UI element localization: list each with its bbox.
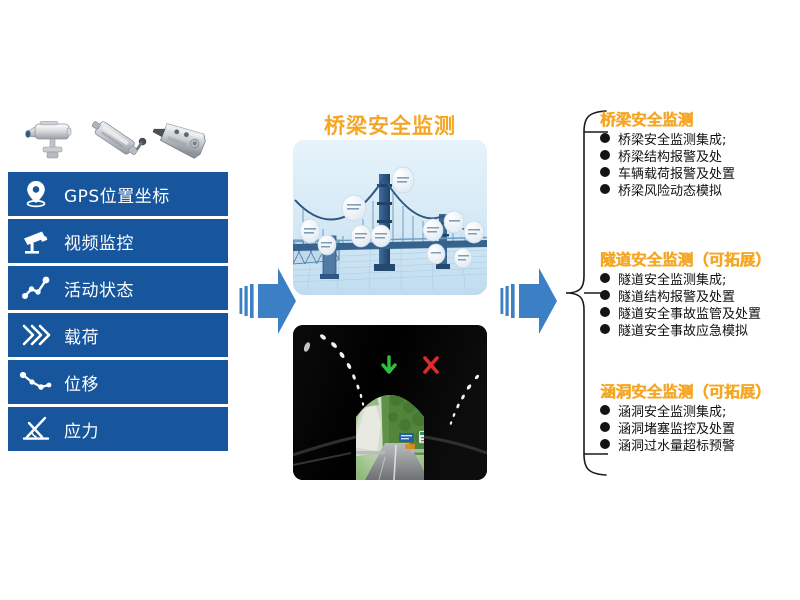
stress-angle-icon (8, 407, 64, 451)
displacement-nodes-icon (8, 360, 64, 404)
location-pin-icon (8, 172, 64, 216)
list-item-label: 涵洞过水量超标预警 (616, 438, 735, 455)
bullet-dot-icon (600, 404, 616, 415)
list-item: 隧道结构报警及处置 (600, 289, 800, 306)
list-item-label: 桥梁安全监测集成; (616, 132, 726, 149)
bullet-dot-icon (600, 272, 616, 283)
list-item-label: 隧道安全监测集成; (616, 272, 726, 289)
list-item: 涵洞堵塞监控及处置 (600, 421, 800, 438)
bridge-monitoring-image (293, 140, 487, 295)
block-tunnel-monitoring: 隧道安全监测（可拓展） 隧道安全监测集成; 隧道结构报警及处置 隧道安全事故监管… (600, 248, 800, 340)
arrow-center-to-right (497, 262, 559, 344)
list-item-label: 桥梁结构报警及处 (616, 149, 722, 166)
bullet-dot-icon (600, 183, 616, 194)
bullet-dot-icon (600, 166, 616, 177)
bullet-dot-icon (600, 132, 616, 143)
parameter-label: GPS位置坐标 (64, 182, 170, 207)
list-item-label: 涵洞安全监测集成; (616, 404, 726, 421)
bullet-dot-icon (600, 323, 616, 334)
list-item-label: 隧道结构报警及处置 (616, 289, 735, 306)
cctv-camera-photo (22, 116, 84, 164)
load-cell-photo (150, 116, 212, 164)
list-item: 涵洞安全监测集成; (600, 404, 800, 421)
parameter-label: 视频监控 (64, 229, 134, 254)
parameter-bar-displacement[interactable]: 位移 (8, 360, 228, 404)
parameter-label: 位移 (64, 370, 99, 395)
center-title: 桥梁安全监测 (290, 110, 490, 140)
video-camera-icon (8, 219, 64, 263)
block-bridge-monitoring: 桥梁安全监测 桥梁安全监测集成; 桥梁结构报警及处 车辆载荷报警及处置 桥梁风险… (600, 108, 800, 200)
list-item: 桥梁安全监测集成; (600, 132, 800, 149)
activity-graph-icon (8, 266, 64, 310)
parameter-bar-gps[interactable]: GPS位置坐标 (8, 172, 228, 216)
block-item-list: 涵洞安全监测集成; 涵洞堵塞监控及处置 涵洞过水量超标预警 (600, 404, 800, 455)
parameter-label: 载荷 (64, 323, 99, 348)
bullet-dot-icon (600, 306, 616, 317)
list-item: 隧道安全事故应急模拟 (600, 323, 800, 340)
block-item-list: 桥梁安全监测集成; 桥梁结构报警及处 车辆载荷报警及处置 桥梁风险动态模拟 (600, 132, 800, 200)
list-item-label: 车辆载荷报警及处置 (616, 166, 735, 183)
list-item: 桥梁风险动态模拟 (600, 183, 800, 200)
sensor-photo-row (14, 112, 214, 168)
list-item: 桥梁结构报警及处 (600, 149, 800, 166)
parameter-label: 活动状态 (64, 276, 134, 301)
displacement-sensor-photo (86, 114, 148, 166)
parameter-bar-stress[interactable]: 应力 (8, 407, 228, 451)
block-title: 涵洞安全监测（可拓展） (600, 380, 800, 402)
diagram-canvas: GPS位置坐标 视频监控 (0, 0, 800, 600)
list-item: 涵洞过水量超标预警 (600, 438, 800, 455)
list-item-label: 桥梁风险动态模拟 (616, 183, 722, 200)
block-title: 隧道安全监测（可拓展） (600, 248, 800, 270)
list-item: 隧道安全监测集成; (600, 272, 800, 289)
parameter-bar-video[interactable]: 视频监控 (8, 219, 228, 263)
tunnel-monitoring-image (293, 325, 487, 480)
bullet-dot-icon (600, 289, 616, 300)
parameter-label: 应力 (64, 417, 99, 442)
arrow-left-to-center (236, 262, 298, 344)
list-item: 隧道安全事故监管及处置 (600, 306, 800, 323)
parameter-bar-load[interactable]: 载荷 (8, 313, 228, 357)
bullet-dot-icon (600, 421, 616, 432)
list-item-label: 涵洞堵塞监控及处置 (616, 421, 735, 438)
bullet-dot-icon (600, 438, 616, 449)
block-title: 桥梁安全监测 (600, 108, 800, 130)
parameter-bar-activity[interactable]: 活动状态 (8, 266, 228, 310)
parameter-bar-list: GPS位置坐标 视频监控 (8, 172, 228, 454)
block-culvert-monitoring: 涵洞安全监测（可拓展） 涵洞安全监测集成; 涵洞堵塞监控及处置 涵洞过水量超标预… (600, 380, 800, 455)
bullet-dot-icon (600, 149, 616, 160)
list-item-label: 隧道安全事故应急模拟 (616, 323, 748, 340)
list-item: 车辆载荷报警及处置 (600, 166, 800, 183)
load-chevrons-icon (8, 313, 64, 357)
list-item-label: 隧道安全事故监管及处置 (616, 306, 761, 323)
block-item-list: 隧道安全监测集成; 隧道结构报警及处置 隧道安全事故监管及处置 隧道安全事故应急… (600, 272, 800, 340)
